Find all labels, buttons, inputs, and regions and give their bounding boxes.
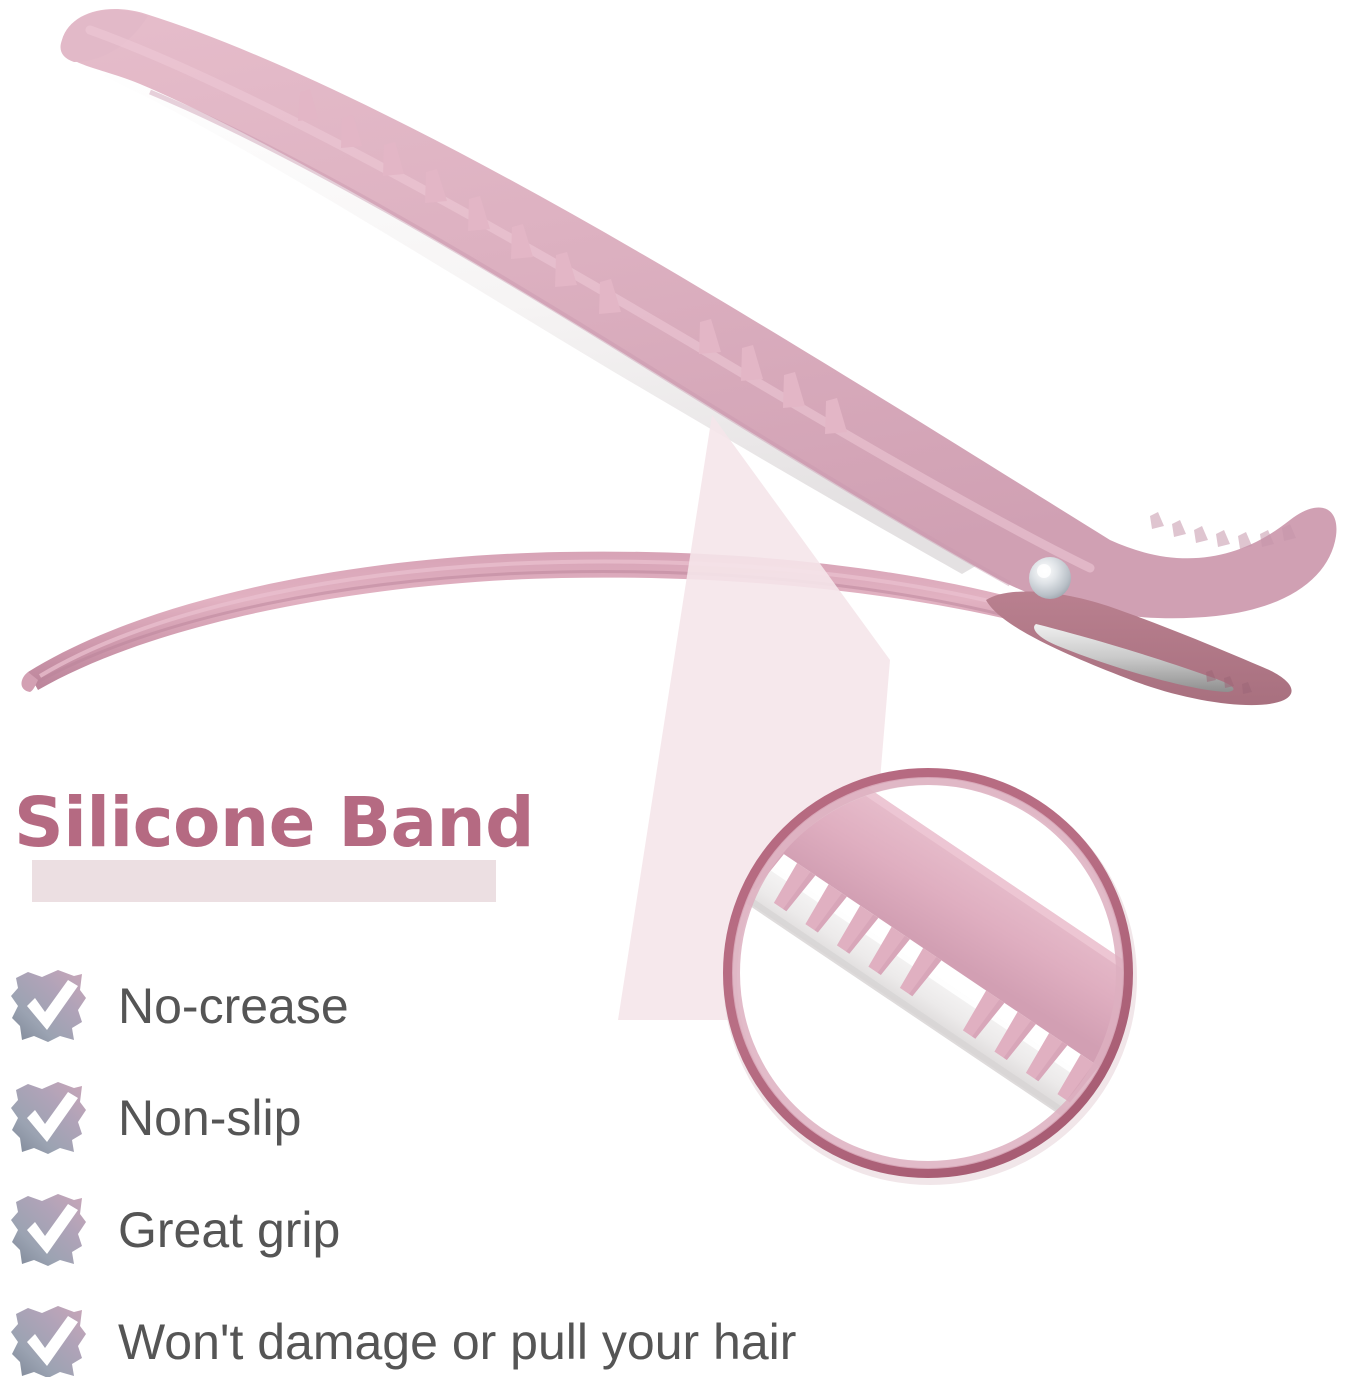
- feature-label: No-crease: [118, 981, 349, 1031]
- feature-item: No-crease: [8, 950, 988, 1062]
- feature-item: Non-slip: [8, 1062, 988, 1174]
- page-title: Silicone Band: [14, 786, 534, 861]
- feature-label: Won't damage or pull your hair: [118, 1317, 796, 1367]
- headline-highlight-bar: [32, 860, 496, 902]
- feature-benefit-list: No-crease Non-slip: [8, 950, 988, 1377]
- checkmark-brush-icon: [8, 1188, 92, 1272]
- checkmark-brush-icon: [8, 964, 92, 1048]
- metal-rivet: [1029, 557, 1071, 599]
- upper-jaw-body: [61, 9, 1337, 618]
- feature-label: Non-slip: [118, 1093, 301, 1143]
- checkmark-brush-icon: [8, 1300, 92, 1377]
- product-photo-hair-clip: [0, 0, 1358, 760]
- feature-item: Great grip: [8, 1174, 988, 1286]
- feature-item: Won't damage or pull your hair: [8, 1286, 988, 1377]
- lower-jaw-arm: [22, 552, 1087, 692]
- feature-label: Great grip: [118, 1205, 340, 1255]
- headline-block: Silicone Band: [14, 786, 634, 911]
- checkmark-brush-icon: [8, 1076, 92, 1160]
- product-marketing-image: Silicone Band No: [0, 0, 1358, 1377]
